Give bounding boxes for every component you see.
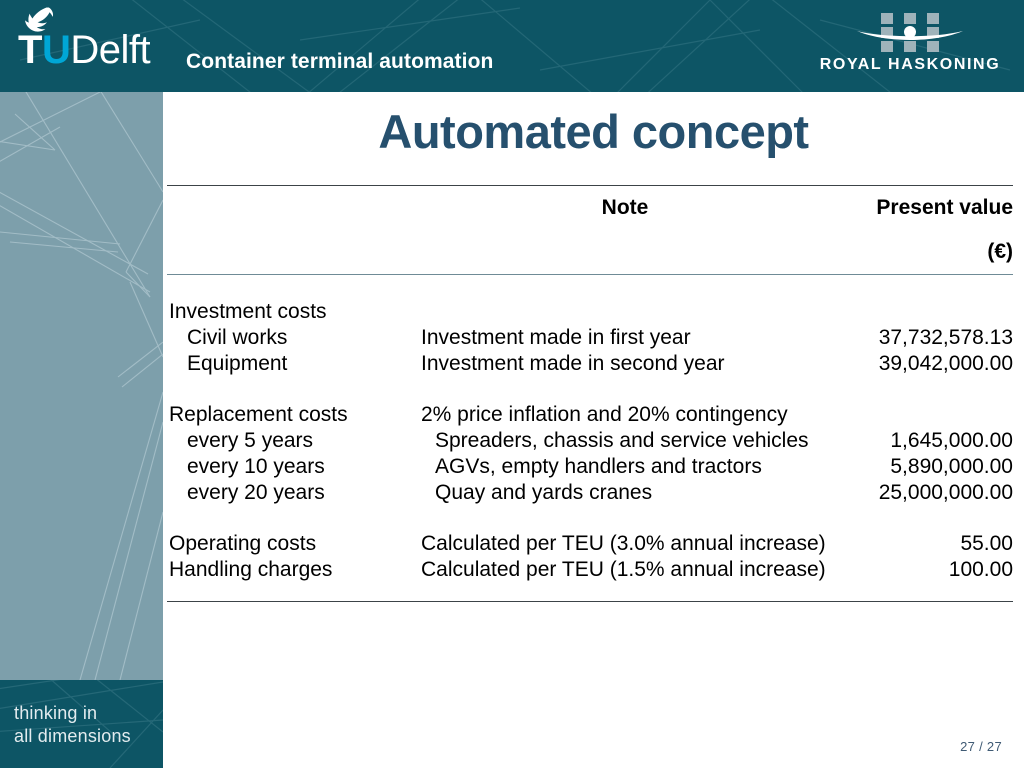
- cell-note: Investment made in first year: [395, 325, 855, 351]
- slide-header-band: TUDelft Container terminal automation: [0, 0, 1024, 92]
- royal-haskoning-wordmark: ROYAL HASKONING: [810, 56, 1010, 74]
- table-body: Investment costsCivil worksInvestment ma…: [167, 275, 1013, 601]
- cell-present-value: 39,042,000.00: [855, 351, 1013, 377]
- table-body-wrapper: Investment costsCivil worksInvestment ma…: [167, 275, 1013, 601]
- left-sidebar: [0, 92, 163, 680]
- header-subtitle: Container terminal automation: [186, 50, 493, 74]
- cell-item: Civil works: [167, 325, 395, 351]
- table-row: Operating costsCalculated per TEU (3.0% …: [167, 531, 1013, 557]
- table-row: every 10 yearsAGVs, empty handlers and t…: [167, 454, 1013, 480]
- logo-letter-u: U: [42, 28, 70, 72]
- cell-present-value: 25,000,000.00: [855, 480, 1013, 506]
- table-row: Civil worksInvestment made in first year…: [167, 325, 1013, 351]
- sidebar-background-pattern: [0, 92, 163, 680]
- royal-haskoning-logo: ROYAL HASKONING: [810, 8, 1010, 86]
- table-row: every 20 yearsQuay and yards cranes25,00…: [167, 480, 1013, 506]
- table: Note Present value (€): [167, 186, 1013, 274]
- tagline-line-2: all dimensions: [14, 725, 131, 748]
- table-pad-row: [167, 583, 1013, 601]
- logo-word-delft: Delft: [70, 28, 150, 72]
- table-row: Replacement costs2% price inflation and …: [167, 402, 1013, 428]
- table-row: EquipmentInvestment made in second year3…: [167, 351, 1013, 377]
- cost-breakdown-table: Note Present value (€) Investment costsC…: [167, 185, 1013, 602]
- presentation-slide: TUDelft Container terminal automation: [0, 0, 1024, 768]
- page-number: 27 / 27: [960, 739, 1002, 754]
- cell-note: [395, 299, 855, 325]
- table-spacer-row: [167, 377, 1013, 402]
- cell-item: every 5 years: [167, 428, 395, 454]
- table-bottom-rule: [167, 601, 1013, 602]
- tagline-text: thinking in all dimensions: [14, 702, 131, 748]
- slide-content-area: Automated concept Note Present value (€): [163, 92, 1024, 768]
- cell-note: Spreaders, chassis and service vehicles: [395, 428, 855, 454]
- table-row: Handling chargesCalculated per TEU (1.5%…: [167, 557, 1013, 583]
- cell-item: Handling charges: [167, 557, 395, 583]
- tu-delft-wordmark: TUDelft: [18, 28, 150, 72]
- table-pad-row: [167, 275, 1013, 299]
- footer-tagline-block: thinking in all dimensions: [0, 680, 163, 768]
- column-header-present-value: Present value (€): [855, 186, 1013, 274]
- table-head: Note Present value (€): [167, 186, 1013, 274]
- tu-delft-logo: TUDelft: [18, 6, 168, 78]
- cell-item: every 10 years: [167, 454, 395, 480]
- cell-item: Equipment: [167, 351, 395, 377]
- column-header-item: [167, 186, 395, 274]
- cell-item: Replacement costs: [167, 402, 395, 428]
- cell-present-value: [855, 402, 1013, 428]
- cell-present-value: 5,890,000.00: [855, 454, 1013, 480]
- table-spacer-row: [167, 506, 1013, 531]
- cell-item: every 20 years: [167, 480, 395, 506]
- cell-present-value: 100.00: [855, 557, 1013, 583]
- cell-present-value: 55.00: [855, 531, 1013, 557]
- table-row: every 5 yearsSpreaders, chassis and serv…: [167, 428, 1013, 454]
- tagline-line-1: thinking in: [14, 702, 131, 725]
- cell-note: AGVs, empty handlers and tractors: [395, 454, 855, 480]
- cell-note: Calculated per TEU (3.0% annual increase…: [395, 531, 855, 557]
- table-row: Investment costs: [167, 299, 1013, 325]
- slide-title: Automated concept: [163, 104, 1024, 159]
- cell-note: Quay and yards cranes: [395, 480, 855, 506]
- table-header-row: Note Present value (€): [167, 186, 1013, 274]
- royal-haskoning-mark-icon: [855, 10, 965, 55]
- cell-note: 2% price inflation and 20% contingency: [395, 402, 855, 428]
- cell-present-value: 1,645,000.00: [855, 428, 1013, 454]
- cell-item: Operating costs: [167, 531, 395, 557]
- column-header-note: Note: [395, 186, 855, 274]
- cell-note: Investment made in second year: [395, 351, 855, 377]
- cell-present-value: 37,732,578.13: [855, 325, 1013, 351]
- cell-note: Calculated per TEU (1.5% annual increase…: [395, 557, 855, 583]
- logo-letter-t: T: [18, 28, 42, 72]
- cell-present-value: [855, 299, 1013, 325]
- cell-item: Investment costs: [167, 299, 395, 325]
